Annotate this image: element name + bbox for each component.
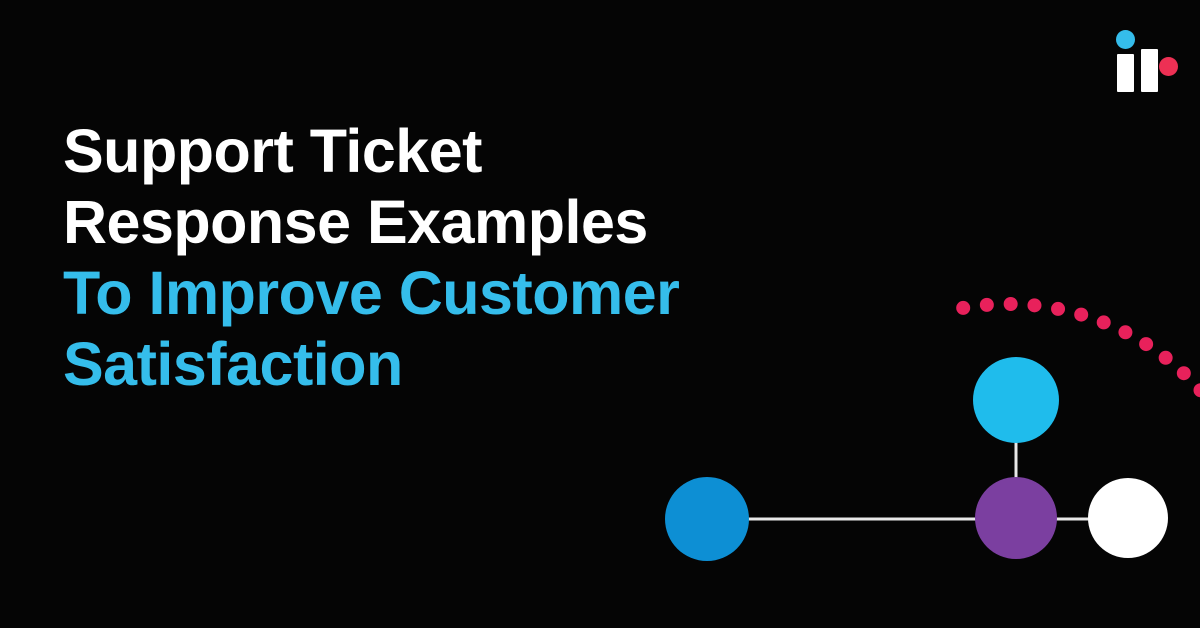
node-cyan [973, 357, 1059, 443]
logo-right-bar-icon [1141, 49, 1158, 92]
node-purple [975, 477, 1057, 559]
banner-root: Support Ticket Response Examples To Impr… [0, 0, 1200, 628]
dotted-arc-icon [956, 297, 1200, 628]
title-line-4: Satisfaction [63, 329, 823, 400]
title-line-1: Support Ticket [63, 116, 823, 187]
brand-logo[interactable] [1104, 30, 1174, 92]
node-blue [665, 477, 749, 561]
arc-dot [1139, 337, 1153, 351]
logo-red-dot-icon [1159, 57, 1178, 76]
title-line-3: To Improve Customer [63, 258, 823, 329]
connector-lines [707, 400, 1128, 519]
title-line-2: Response Examples [63, 187, 823, 258]
arc-dot [1194, 383, 1200, 397]
arc-dot [1004, 297, 1018, 311]
node-white [1088, 478, 1168, 558]
arc-dot [1159, 351, 1173, 365]
arc-dot [1097, 315, 1111, 329]
arc-dot [1074, 308, 1088, 322]
logo-cyan-dot-icon [1116, 30, 1135, 49]
arc-dot [1177, 366, 1191, 380]
arc-dot [1118, 325, 1132, 339]
logo-left-bar-icon [1117, 54, 1134, 92]
arc-dot [1051, 302, 1065, 316]
arc-dot [1027, 298, 1041, 312]
page-title: Support Ticket Response Examples To Impr… [63, 116, 823, 400]
arc-dot [980, 298, 994, 312]
arc-dot [956, 301, 970, 315]
